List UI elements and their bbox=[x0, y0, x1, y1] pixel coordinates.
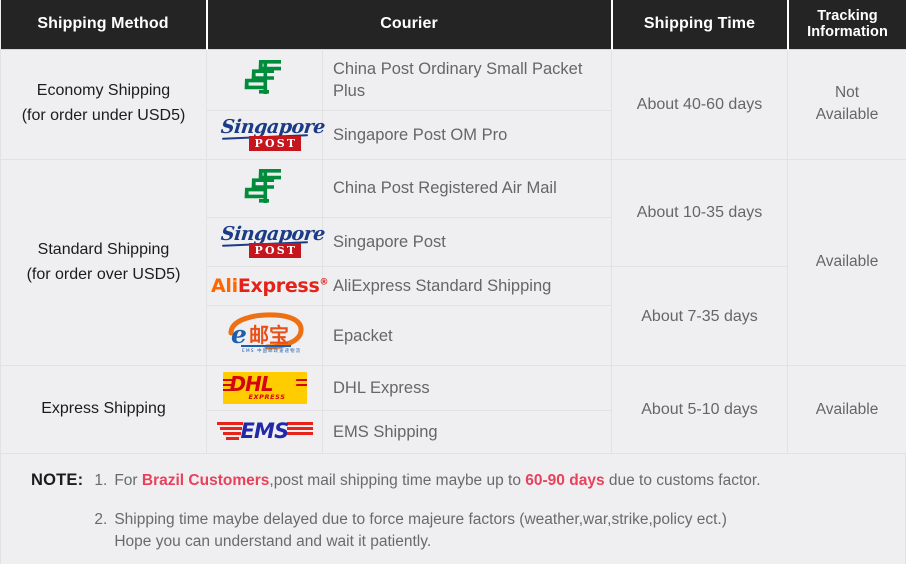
table-row: Standard Shipping (for order over USD5) bbox=[1, 160, 906, 218]
note-list: 1. For Brazil Customers,post mail shippi… bbox=[94, 470, 760, 553]
note-item-1: 1. For Brazil Customers,post mail shippi… bbox=[94, 470, 760, 492]
courier-logo-cell: e 邮宝 EMS 中国邮政速递物流 bbox=[207, 306, 323, 366]
dhl-stripe bbox=[295, 384, 306, 386]
ems-stripe bbox=[287, 427, 313, 430]
table-row: Economy Shipping (for order under USD5) bbox=[1, 49, 906, 111]
courier-name: EMS Shipping bbox=[323, 411, 612, 454]
tracking-cell-standard: Available bbox=[788, 160, 906, 366]
note-item-2-body: Shipping time maybe delayed due to force… bbox=[114, 509, 760, 554]
courier-logo-cell: EMS bbox=[207, 411, 323, 454]
ems-stripe bbox=[226, 437, 239, 440]
header-tracking-information: Tracking Information bbox=[788, 0, 906, 49]
header-tracking-line1: Tracking bbox=[817, 8, 877, 24]
singpost-post-badge: POST bbox=[249, 136, 302, 151]
singapore-post-logo: Singapore POST bbox=[219, 224, 311, 260]
courier-logo-cell: Singapore POST bbox=[207, 111, 323, 160]
courier-name: Singapore Post bbox=[323, 218, 612, 267]
table-body: Economy Shipping (for order under USD5) bbox=[1, 49, 906, 454]
ems-stripe bbox=[220, 427, 242, 430]
ems-stripe bbox=[287, 432, 313, 435]
table-row: Express Shipping DHL EXPRESS DHL Express… bbox=[1, 366, 906, 411]
note-label: NOTE: bbox=[31, 470, 83, 490]
note-highlight-brazil: Brazil Customers bbox=[142, 472, 269, 489]
tracking-cell-express: Available bbox=[788, 366, 906, 454]
note-highlight-days: 60-90 days bbox=[525, 472, 604, 489]
courier-logo-cell: AliExpress® bbox=[207, 267, 323, 306]
aliexpress-express-text: Express bbox=[238, 275, 320, 297]
aliexpress-ali-text: Ali bbox=[211, 275, 238, 297]
note-item-1-pre: For bbox=[114, 472, 142, 489]
courier-logo-cell bbox=[207, 160, 323, 218]
courier-name: Singapore Post OM Pro bbox=[323, 111, 612, 160]
courier-logo-cell: Singapore POST bbox=[207, 218, 323, 267]
method-label-line1: Standard Shipping bbox=[7, 238, 200, 263]
note-item-2-line1: Shipping time maybe delayed due to force… bbox=[114, 509, 760, 531]
shipping-info-sheet: Shipping Method Courier Shipping Time Tr… bbox=[0, 0, 906, 564]
courier-name: AliExpress Standard Shipping bbox=[323, 267, 612, 306]
ems-stripe bbox=[287, 422, 313, 425]
header-tracking-line2: Information bbox=[807, 24, 888, 40]
method-cell-standard: Standard Shipping (for order over USD5) bbox=[1, 160, 207, 366]
method-label-line1: Express Shipping bbox=[7, 397, 200, 422]
dhl-wordmark: DHL bbox=[230, 373, 273, 395]
dhl-logo: DHL EXPRESS bbox=[223, 372, 307, 404]
courier-name: China Post Ordinary Small Packet Plus bbox=[323, 49, 612, 111]
ems-stripe bbox=[223, 432, 241, 435]
singpost-post-badge: POST bbox=[249, 243, 302, 258]
header-courier: Courier bbox=[207, 0, 612, 49]
svg-text:邮宝: 邮宝 bbox=[249, 323, 289, 347]
shipping-time-cell: About 7-35 days bbox=[612, 267, 788, 366]
shipping-methods-table: Shipping Method Courier Shipping Time Tr… bbox=[0, 0, 906, 454]
aliexpress-logo: AliExpress® bbox=[211, 275, 328, 297]
courier-name: Epacket bbox=[323, 306, 612, 366]
tracking-line1: Not bbox=[835, 84, 859, 101]
note-item-1-post: due to customs factor. bbox=[605, 472, 761, 489]
header-row: Shipping Method Courier Shipping Time Tr… bbox=[1, 0, 906, 49]
table-header: Shipping Method Courier Shipping Time Tr… bbox=[1, 0, 906, 49]
method-cell-economy: Economy Shipping (for order under USD5) bbox=[1, 49, 207, 160]
method-label-line2: (for order under USD5) bbox=[7, 104, 200, 129]
courier-logo-cell: DHL EXPRESS bbox=[207, 366, 323, 411]
aliexpress-tm-mark: ® bbox=[319, 278, 328, 288]
courier-logo-cell bbox=[207, 49, 323, 111]
header-shipping-time: Shipping Time bbox=[612, 0, 788, 49]
method-cell-express: Express Shipping bbox=[1, 366, 207, 454]
tracking-cell-economy: Not Available bbox=[788, 49, 906, 160]
singapore-post-logo: Singapore POST bbox=[219, 117, 311, 153]
dhl-express-sub: EXPRESS bbox=[249, 393, 286, 401]
note-item-2-number: 2. bbox=[94, 509, 114, 554]
note-item-2-line2: Hope you can understand and wait it pati… bbox=[114, 531, 760, 553]
courier-name: China Post Registered Air Mail bbox=[323, 160, 612, 218]
method-label-line2: (for order over USD5) bbox=[7, 263, 200, 288]
ems-logo: EMS bbox=[217, 417, 313, 447]
ems-wordmark: EMS bbox=[241, 419, 289, 443]
note-item-1-number: 1. bbox=[94, 470, 114, 492]
note-item-1-mid: ,post mail shipping time maybe up to bbox=[269, 472, 525, 489]
note-item-1-body: For Brazil Customers,post mail shipping … bbox=[114, 470, 760, 492]
note-item-2: 2. Shipping time maybe delayed due to fo… bbox=[94, 509, 760, 554]
shipping-time-cell: About 5-10 days bbox=[612, 366, 788, 454]
shipping-time-cell: About 10-35 days bbox=[612, 160, 788, 267]
svg-text:e: e bbox=[231, 320, 247, 349]
note-section: NOTE: 1. For Brazil Customers,post mail … bbox=[0, 454, 906, 564]
shipping-time-cell: About 40-60 days bbox=[612, 49, 788, 160]
ems-stripe bbox=[217, 422, 243, 425]
courier-name: DHL Express bbox=[323, 366, 612, 411]
china-post-logo bbox=[242, 57, 288, 102]
header-shipping-method: Shipping Method bbox=[1, 0, 207, 49]
epacket-logo: e 邮宝 EMS 中国邮政速递物流 bbox=[223, 312, 307, 359]
tracking-line2: Available bbox=[816, 106, 879, 123]
method-label-line1: Economy Shipping bbox=[7, 79, 200, 104]
dhl-stripe bbox=[295, 379, 306, 381]
china-post-logo bbox=[242, 166, 288, 211]
svg-text:EMS 中国邮政速递物流: EMS 中国邮政速递物流 bbox=[242, 347, 301, 354]
